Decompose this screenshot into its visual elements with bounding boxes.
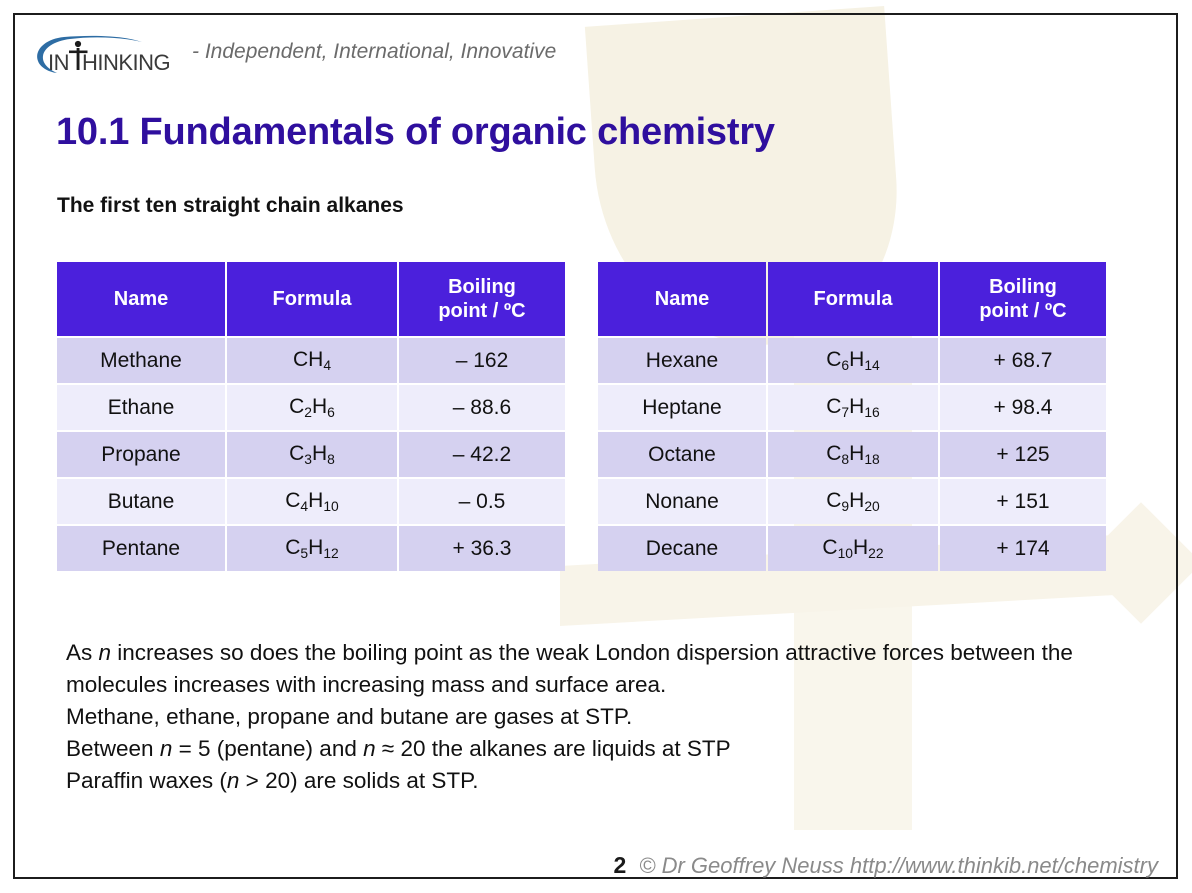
formula-h-sub: 4: [323, 357, 331, 373]
alkanes-table-left: Name Formula Boiling point / ºC Methane …: [55, 260, 567, 573]
cell-formula: C3H8: [227, 432, 397, 477]
cell-formula: C7H16: [768, 385, 938, 430]
cell-formula: C5H12: [227, 526, 397, 571]
formula-c-sub: 6: [841, 357, 849, 373]
paragraph-4: Paraffin waxes (n > 20) are solids at ST…: [66, 765, 1096, 797]
cell-formula: CH4: [227, 338, 397, 383]
p4-part-b: > 20) are solids at STP.: [239, 768, 478, 793]
brand-tagline: - Independent, International, Innovative: [192, 40, 556, 64]
formula-h-sub: 12: [323, 545, 338, 561]
cell-name: Hexane: [598, 338, 766, 383]
bp-header-line2: point / ºC: [979, 300, 1066, 322]
formula-h: H: [308, 348, 323, 371]
formula-h: H: [312, 442, 327, 465]
formula-c: C: [826, 442, 841, 465]
cell-name: Decane: [598, 526, 766, 571]
paragraph-2: Methane, ethane, propane and butane are …: [66, 701, 1096, 733]
formula-c-sub: 8: [841, 451, 849, 467]
cell-formula: C2H6: [227, 385, 397, 430]
formula-h: H: [849, 442, 864, 465]
cell-boiling-point: + 174: [940, 526, 1106, 571]
formula-c-sub: 4: [300, 498, 308, 514]
variable-n: n: [363, 736, 376, 761]
alkanes-table-right: Name Formula Boiling point / ºC Hexane C…: [596, 260, 1108, 573]
table-row: Propane C3H8 – 42.2: [57, 432, 565, 477]
formula-h-sub: 20: [864, 498, 879, 514]
formula-h-sub: 22: [868, 545, 883, 561]
table-header-row: Name Formula Boiling point / ºC: [598, 262, 1106, 336]
column-header-boiling-point: Boiling point / ºC: [940, 262, 1106, 336]
table-row: Heptane C7H16 + 98.4: [598, 385, 1106, 430]
cell-formula: C4H10: [227, 479, 397, 524]
variable-n: n: [99, 640, 112, 665]
cell-boiling-point: – 42.2: [399, 432, 565, 477]
column-header-formula: Formula: [227, 262, 397, 336]
formula-h-sub: 18: [864, 451, 879, 467]
table-row: Hexane C6H14 + 68.7: [598, 338, 1106, 383]
cell-boiling-point: + 36.3: [399, 526, 565, 571]
cell-name: Heptane: [598, 385, 766, 430]
column-header-name: Name: [598, 262, 766, 336]
p4-part-a: Paraffin waxes (: [66, 768, 227, 793]
formula-h: H: [853, 536, 868, 559]
formula-c: C: [826, 489, 841, 512]
table-row: Ethane C2H6 – 88.6: [57, 385, 565, 430]
variable-n: n: [160, 736, 173, 761]
cell-boiling-point: + 151: [940, 479, 1106, 524]
formula-h-sub: 10: [323, 498, 338, 514]
cell-name: Pentane: [57, 526, 225, 571]
cell-boiling-point: + 98.4: [940, 385, 1106, 430]
formula-c-sub: 9: [841, 498, 849, 514]
formula-c-sub: 5: [300, 545, 308, 561]
svg-text:HINKING: HINKING: [82, 50, 170, 75]
formula-c-sub: 2: [304, 404, 312, 420]
table-row: Octane C8H18 + 125: [598, 432, 1106, 477]
formula-h-sub: 6: [327, 404, 335, 420]
formula-h: H: [849, 395, 864, 418]
formula-c: C: [285, 536, 300, 559]
copyright-credit: © Dr Geoffrey Neuss http://www.thinkib.n…: [639, 853, 1158, 879]
page-number: 2: [613, 852, 626, 879]
page-subtitle: The first ten straight chain alkanes: [57, 194, 404, 218]
formula-c-sub: 10: [838, 545, 853, 561]
formula-h-sub: 16: [864, 404, 879, 420]
cell-boiling-point: – 162: [399, 338, 565, 383]
table-row: Methane CH4 – 162: [57, 338, 565, 383]
formula-h-sub: 14: [864, 357, 879, 373]
variable-n: n: [227, 768, 240, 793]
column-header-formula: Formula: [768, 262, 938, 336]
formula-c: C: [822, 536, 837, 559]
cell-name: Butane: [57, 479, 225, 524]
formula-c: C: [826, 348, 841, 371]
svg-text:IN: IN: [48, 50, 69, 75]
slide-footer: 2 © Dr Geoffrey Neuss http://www.thinkib…: [613, 852, 1158, 879]
p1-part-a: As: [66, 640, 99, 665]
cell-boiling-point: – 88.6: [399, 385, 565, 430]
cell-formula: C9H20: [768, 479, 938, 524]
table-row: Pentane C5H12 + 36.3: [57, 526, 565, 571]
cell-boiling-point: – 0.5: [399, 479, 565, 524]
formula-c: C: [289, 395, 304, 418]
formula-c-sub: 3: [304, 451, 312, 467]
bp-header-line1: Boiling: [989, 276, 1057, 298]
paragraph-3: Between n = 5 (pentane) and n ≈ 20 the a…: [66, 733, 1096, 765]
inthinking-logo-icon[interactable]: IN HINKING: [30, 27, 178, 77]
p3-part-a: Between: [66, 736, 160, 761]
table-row: Decane C10H22 + 174: [598, 526, 1106, 571]
column-header-boiling-point: Boiling point / ºC: [399, 262, 565, 336]
cell-boiling-point: + 68.7: [940, 338, 1106, 383]
table-row: Nonane C9H20 + 151: [598, 479, 1106, 524]
cell-boiling-point: + 125: [940, 432, 1106, 477]
cell-name: Ethane: [57, 385, 225, 430]
p1-part-b: increases so does the boiling point as t…: [66, 640, 1073, 697]
formula-c: C: [293, 348, 308, 371]
bp-header-line1: Boiling: [448, 276, 516, 298]
column-header-name: Name: [57, 262, 225, 336]
formula-c-sub: 7: [841, 404, 849, 420]
formula-h: H: [308, 536, 323, 559]
formula-c: C: [285, 489, 300, 512]
page-title: 10.1 Fundamentals of organic chemistry: [56, 111, 775, 154]
cell-name: Methane: [57, 338, 225, 383]
bp-header-line2: point / ºC: [438, 300, 525, 322]
formula-h: H: [849, 489, 864, 512]
formula-h: H: [312, 395, 327, 418]
table-header-row: Name Formula Boiling point / ºC: [57, 262, 565, 336]
formula-c: C: [289, 442, 304, 465]
table-row: Butane C4H10 – 0.5: [57, 479, 565, 524]
p3-part-c: ≈ 20 the alkanes are liquids at STP: [376, 736, 731, 761]
brand-header: IN HINKING - Independent, International,…: [30, 26, 556, 78]
formula-c: C: [826, 395, 841, 418]
cell-formula: C10H22: [768, 526, 938, 571]
formula-h-sub: 8: [327, 451, 335, 467]
explanatory-text-block: As n increases so does the boiling point…: [66, 637, 1096, 797]
cell-name: Octane: [598, 432, 766, 477]
cell-name: Nonane: [598, 479, 766, 524]
cell-name: Propane: [57, 432, 225, 477]
cell-formula: C8H18: [768, 432, 938, 477]
formula-h: H: [849, 348, 864, 371]
p3-part-b: = 5 (pentane) and: [172, 736, 363, 761]
formula-h: H: [308, 489, 323, 512]
slide: IN HINKING - Independent, International,…: [0, 0, 1192, 893]
cell-formula: C6H14: [768, 338, 938, 383]
paragraph-1: As n increases so does the boiling point…: [66, 637, 1096, 701]
